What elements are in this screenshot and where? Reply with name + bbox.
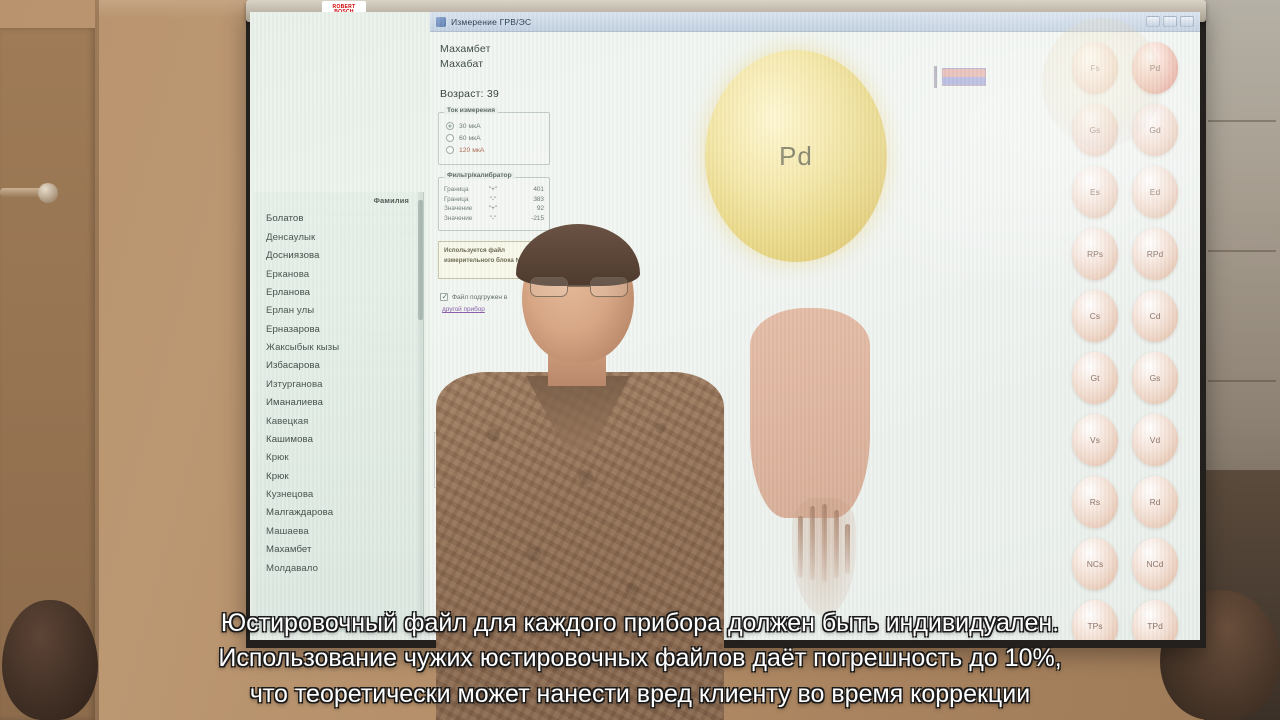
patient-surname: Махамбет [434,42,554,57]
list-item[interactable]: Избасарова [264,357,415,375]
element-circle[interactable]: Es [1072,166,1118,218]
scrollbar-thumb[interactable] [418,200,423,320]
filter-label: Граница [444,186,486,193]
element-circle[interactable]: RPd [1132,228,1178,280]
current-group-legend: Ток измерения [444,107,498,114]
patient-given-name: Махабат [434,57,554,72]
list-item[interactable]: Ерканова [264,265,415,283]
list-item[interactable]: Ерлан улы [264,302,415,320]
list-item[interactable]: Ерназарова [264,320,415,338]
pd-ellipse-label: Pd [779,141,813,172]
element-circle[interactable]: Cd [1132,290,1178,342]
app-title: Измерение ГРВ/ЭС [451,17,531,27]
list-item[interactable]: Малгаждарова [264,504,415,522]
patient-age: Возраст: 39 [434,88,554,100]
filter-row: Граница "+" 401 [444,186,544,193]
subtitle-line-2: Использование чужих юстировочных файлов … [14,641,1266,677]
filter-row: Граница "-" 383 [444,196,544,203]
subtitle-overlay: Юстировочный файл для каждого прибора до… [0,606,1280,713]
radio-option-60[interactable]: 60 мкА [446,134,544,142]
radio-option-30[interactable]: 30 мкА [446,122,544,130]
list-item[interactable]: Кузнецова [264,486,415,504]
list-item[interactable]: Изтурганова [264,375,415,393]
filter-sign: "+" [486,186,500,193]
list-item[interactable]: Досниязова [264,247,415,265]
list-item[interactable]: Болатов [264,210,415,228]
screenshot-root: ROBERT BOSCH Фамилия Болатов Денсаулык Д… [0,0,1280,720]
list-item[interactable]: Махамбет [264,541,415,559]
list-item[interactable]: Денсаулык [264,228,415,246]
window-controls [1146,16,1200,27]
software-logo-text [1028,29,1182,164]
radio-icon[interactable] [446,122,454,130]
subtitle-line-1: Юстировочный файл для каждого прибора до… [14,606,1266,642]
filter-label: Значение [444,215,486,222]
minimize-button[interactable] [1146,16,1160,27]
radio-option-120[interactable]: 120 мкА [446,146,544,154]
element-circle[interactable]: Rs [1072,476,1118,528]
patient-list-panel[interactable]: Фамилия Болатов Денсаулык Досниязова Ерк… [254,192,424,632]
element-circle[interactable]: NCd [1132,538,1178,590]
subtitle-line-3: что теоретически может нанести вред клие… [14,677,1266,713]
app-icon [436,17,446,27]
radio-label: 30 мкА [459,123,481,130]
filter-row: Значение "+" 92 [444,205,544,212]
hand-silhouette [792,498,856,616]
current-group: Ток измерения 30 мкА 60 мкА 120 мкА [438,112,550,165]
legend-tick [934,66,937,88]
element-circle[interactable]: RPs [1072,228,1118,280]
door-handle [0,188,48,197]
element-circle[interactable]: Rd [1132,476,1178,528]
legend-gradient-chip [942,68,986,86]
list-item[interactable]: Иманалиева [264,394,415,412]
list-item[interactable]: Машаева [264,522,415,540]
patient-list-scrollbar[interactable] [418,192,423,632]
presenter-glasses [530,277,628,297]
body-silhouette [750,308,870,518]
filter-label: Значение [444,205,486,212]
filter-group-legend: Фильтр/калибратор [444,172,515,179]
element-circle[interactable]: Vd [1132,414,1178,466]
filter-value: 92 [537,205,544,212]
element-circle[interactable]: Vs [1072,414,1118,466]
list-item[interactable]: Молдавало [264,559,415,577]
element-circle[interactable]: Cs [1072,290,1118,342]
element-circle[interactable]: Gt [1072,352,1118,404]
list-item[interactable]: Кавецкая [264,412,415,430]
filter-row: Значение "-" -215 [444,215,544,222]
list-item[interactable]: Жаксыбык кызы [264,339,415,357]
close-button[interactable] [1180,16,1194,27]
list-item[interactable]: Крюк [264,449,415,467]
filter-value: 401 [533,186,544,193]
radio-icon[interactable] [446,134,454,142]
filter-sign: "+" [486,205,500,212]
filter-sign: "-" [486,215,500,222]
element-circle[interactable]: Gs [1132,352,1178,404]
filter-value: 383 [533,196,544,203]
filter-group: Фильтр/калибратор Граница "+" 401 Границ… [438,177,550,231]
filter-value: -215 [531,215,544,222]
pd-glow-ellipse: Pd [705,50,887,262]
filter-sign: "-" [486,196,500,203]
maximize-button[interactable] [1163,16,1177,27]
radio-label: 120 мкА [459,147,484,154]
list-item[interactable]: Крюк [264,467,415,485]
list-item[interactable]: Кашимова [264,431,415,449]
element-circle[interactable]: NCs [1072,538,1118,590]
filter-label: Граница [444,196,486,203]
radio-label: 60 мкА [459,135,481,142]
list-item[interactable]: Ерланова [264,284,415,302]
column-header-surname: Фамилия [264,196,415,205]
element-circle[interactable]: Ed [1132,166,1178,218]
radio-icon[interactable] [446,146,454,154]
